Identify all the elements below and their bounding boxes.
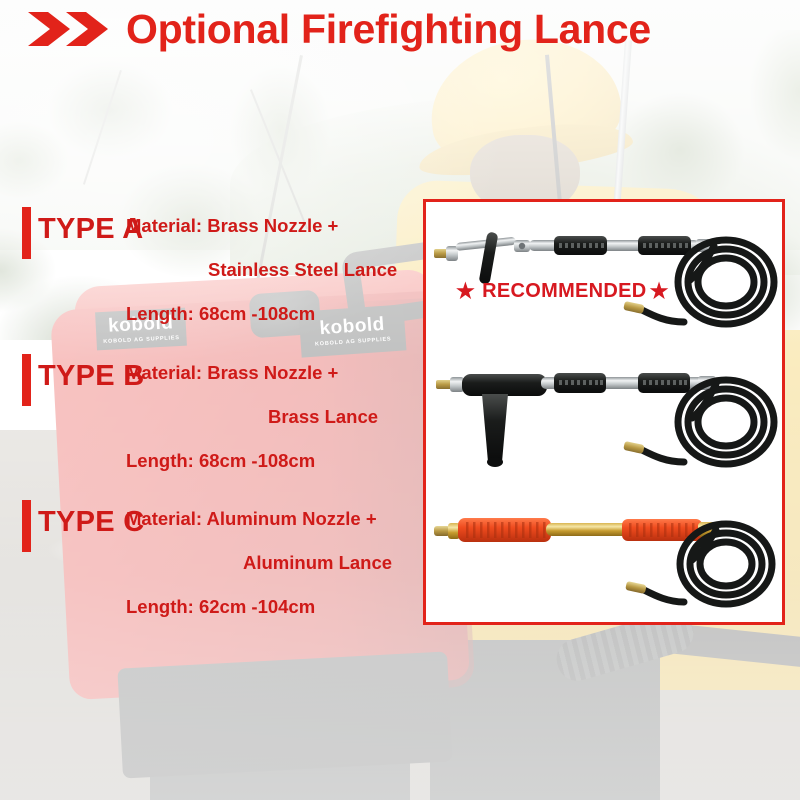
type-b-spec-length: Length: 68cm -108cm bbox=[126, 449, 315, 472]
product-photo-panel: ★ RECOMMENDED ★ bbox=[423, 199, 785, 625]
double-chevron-right-icon bbox=[26, 9, 112, 49]
type-a-spec-material-cont: Stainless Steel Lance bbox=[208, 258, 397, 281]
type-a-spec-length: Length: 68cm -108cm bbox=[126, 302, 315, 325]
star-icon-right: ★ bbox=[650, 281, 669, 302]
type-c-accent-bar bbox=[22, 500, 31, 552]
recommended-label: RECOMMENDED bbox=[482, 280, 646, 303]
type-b-accent-bar bbox=[22, 354, 31, 406]
type-a-accent-bar bbox=[22, 207, 31, 259]
recommended-badge: ★ RECOMMENDED ★ bbox=[456, 280, 669, 303]
product-image-type-b[interactable] bbox=[426, 350, 782, 490]
product-image-type-c[interactable] bbox=[426, 490, 782, 622]
type-b-spec-material: Material: Brass Nozzle + bbox=[126, 361, 338, 384]
type-c-spec-length: Length: 62cm -104cm bbox=[126, 595, 315, 618]
type-c-spec-material: Material: Aluminum Nozzle + bbox=[126, 507, 377, 530]
type-b-spec-material-cont: Brass Lance bbox=[268, 405, 378, 428]
type-block-a: TYPE A Material: Brass Nozzle + Stainles… bbox=[0, 205, 430, 261]
star-icon-left: ★ bbox=[456, 281, 475, 302]
page-header: Optional Firefighting Lance bbox=[0, 0, 800, 58]
type-c-spec-material-cont: Aluminum Lance bbox=[243, 551, 392, 574]
page-title: Optional Firefighting Lance bbox=[126, 9, 651, 50]
type-block-c: TYPE C Material: Aluminum Nozzle + Alumi… bbox=[0, 498, 430, 554]
type-block-b: TYPE B Material: Brass Nozzle + Brass La… bbox=[0, 352, 430, 408]
type-a-spec-material: Material: Brass Nozzle + bbox=[126, 214, 338, 237]
